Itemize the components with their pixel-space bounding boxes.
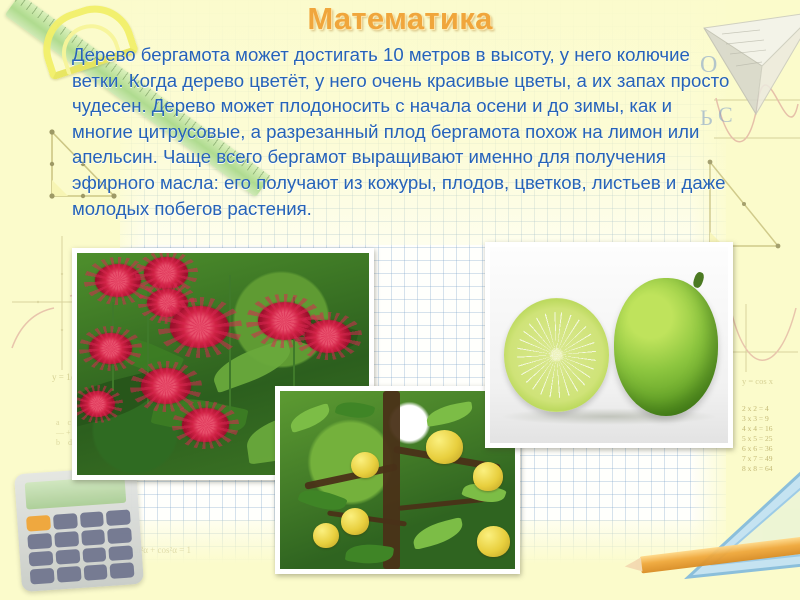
page-title: Математика: [0, 1, 800, 37]
halved-fruit: [504, 298, 609, 412]
photo-bergamot-tree-image: [280, 391, 515, 569]
photo-bergamot-tree[interactable]: [275, 386, 520, 574]
photo-bergamot-fruit-image: [490, 247, 728, 443]
photo-bergamot-fruit[interactable]: [485, 242, 733, 448]
calculator-screen: [25, 476, 127, 510]
formula-cosine: y = cos x: [742, 376, 773, 386]
presentation-slide: y = 1/x a c — + — = ? b d y = cos x 2 x …: [0, 0, 800, 600]
calculator-icon: [14, 466, 144, 592]
calculator-keys: [26, 509, 134, 584]
slide-paragraph: Дерево бергамота может достигать 10 метр…: [72, 42, 732, 221]
whole-fruit: [614, 278, 719, 415]
